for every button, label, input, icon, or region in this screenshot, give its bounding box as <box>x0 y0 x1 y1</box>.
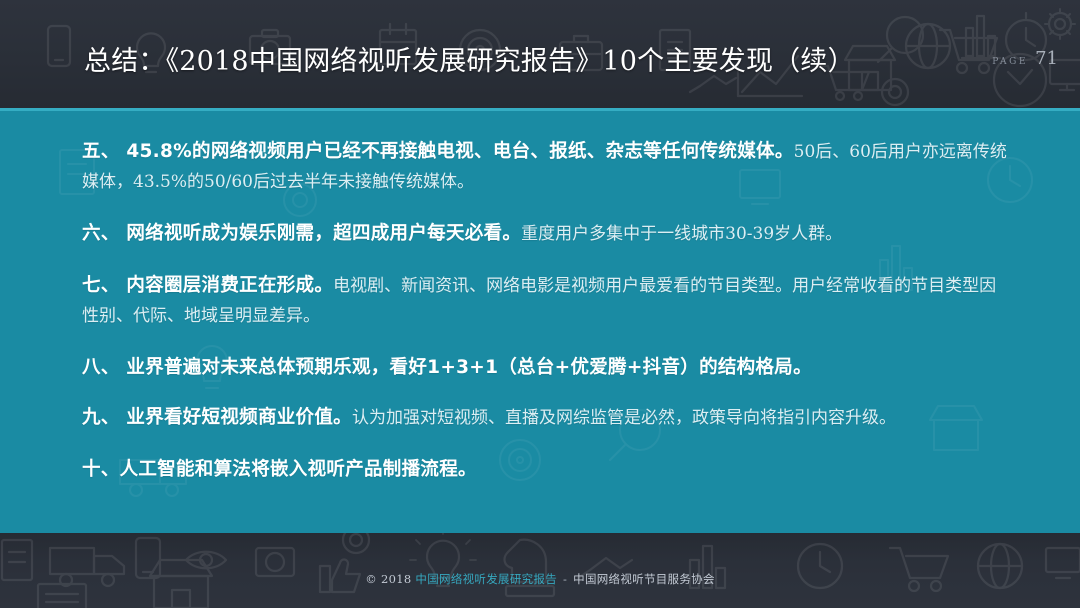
slide-footer-band: © 2018 中国网络视听发展研究报告 - 中国网络视听节目服务协会 <box>0 533 1080 608</box>
page-number: 71 <box>1035 48 1058 69</box>
eye-icon <box>186 552 226 569</box>
page-title: 总结：《2018中国网络视听发展研究报告》10个主要发现（续） <box>84 45 855 79</box>
findings-list: 五、 45.8%的网络视频用户已经不再接触电视、电台、报纸、杂志等任何传统媒体。… <box>82 137 1012 485</box>
credit-separator: - <box>561 572 569 586</box>
finding-detail: 认为加强对短视频、直播及网综监管是必然，政策导向将指引内容升级。 <box>352 408 896 428</box>
footer-credit: © 2018 中国网络视听发展研究报告 - 中国网络视听节目服务协会 <box>0 571 1080 587</box>
panel-accent-line <box>0 108 1080 111</box>
report-name: 中国网络视听发展研究报告 <box>415 572 557 586</box>
finding-lead: 六、 网络视听成为娱乐刚需，超四成用户每天必看。 <box>82 223 521 244</box>
copyright-text: © 2018 <box>365 572 411 586</box>
shopping-cart-icon <box>940 30 997 73</box>
organization-name: 中国网络视听节目服务协会 <box>573 572 715 586</box>
finding-lead: 七、 内容圈层消费正在形成。 <box>82 275 333 296</box>
mobile-phone-icon <box>48 26 70 66</box>
page-label: PAGE <box>992 57 1028 67</box>
page-number-marker: PAGE 71 <box>992 48 1058 69</box>
notebook-icon <box>38 584 86 608</box>
finding-lead: 五、 45.8%的网络视频用户已经不再接触电视、电台、报纸、杂志等任何传统媒体。 <box>82 141 794 162</box>
gear-icon <box>882 79 908 105</box>
finding-item: 九、 业界看好短视频商业价值。认为加强对短视频、直播及网综监管是必然，政策导向将… <box>82 403 1012 433</box>
finding-lead: 八、 业界普遍对未来总体预期乐观，看好1+3+1（总台+优爱腾+抖音）的结构格局… <box>82 357 812 378</box>
finding-lead: 九、 业界看好短视频商业价值。 <box>82 407 352 428</box>
slide-header-band: 总结：《2018中国网络视听发展研究报告》10个主要发现（续） PAGE 71 <box>0 0 1080 108</box>
finding-item: 七、 内容圈层消费正在形成。电视剧、新闻资讯、网络电影是视频用户最爱看的节目类型… <box>82 271 1012 331</box>
finding-item: 八、 业界普遍对未来总体预期乐观，看好1+3+1（总台+优爱腾+抖音）的结构格局… <box>82 353 1012 383</box>
finding-detail: 重度用户多集中于一线城市30-39岁人群。 <box>521 224 842 244</box>
globe-icon <box>906 24 950 68</box>
finding-item: 六、 网络视听成为娱乐刚需，超四成用户每天必看。重度用户多集中于一线城市30-3… <box>82 219 1012 249</box>
content-panel: 五、 45.8%的网络视频用户已经不再接触电视、电台、报纸、杂志等任何传统媒体。… <box>0 108 1080 533</box>
presentation-slide: 总结：《2018中国网络视听发展研究报告》10个主要发现（续） PAGE 71 <box>0 0 1080 608</box>
finding-lead: 十、人工智能和算法将嵌入视听产品制播流程。 <box>82 459 477 480</box>
finding-item: 五、 45.8%的网络视频用户已经不再接触电视、电台、报纸、杂志等任何传统媒体。… <box>82 137 1012 197</box>
chess-knight-icon <box>505 540 554 596</box>
magnifier-icon <box>878 17 923 62</box>
gear-icon <box>343 533 369 553</box>
gear-icon <box>1045 9 1075 39</box>
finding-item: 十、人工智能和算法将嵌入视听产品制播流程。 <box>82 455 1012 485</box>
